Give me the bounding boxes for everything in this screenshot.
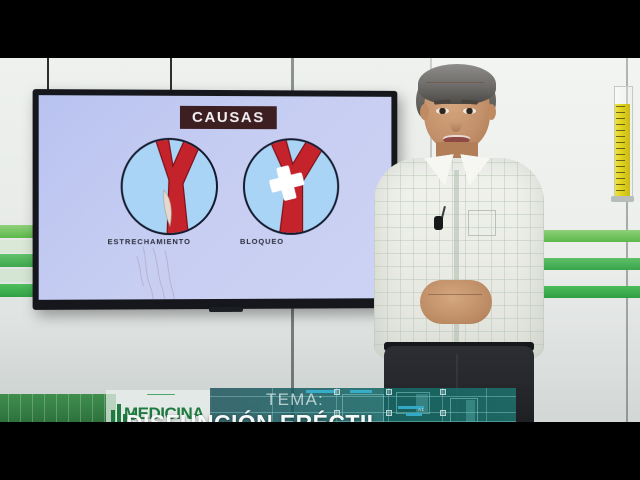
diagram-bloqueo — [243, 138, 339, 235]
blueprint-code-label: A1 — [418, 407, 425, 412]
shirt-placket — [454, 170, 459, 356]
letterbox-top — [0, 0, 640, 58]
clasped-hands — [420, 280, 492, 324]
lower-third-kicker: TEMA: — [266, 390, 324, 410]
presenter-shirt — [374, 158, 544, 358]
hand-crease-lower — [428, 294, 482, 295]
logo-bar-2 — [117, 404, 121, 422]
bench-texture — [0, 394, 116, 422]
diagram-label-left: ESTRECHAMIENTO — [108, 237, 191, 246]
diagram-label-right: BLOQUEO — [240, 237, 284, 246]
graduated-cylinder-prop — [614, 86, 631, 204]
shirt-pocket — [468, 210, 496, 236]
ear-right — [487, 104, 496, 120]
tv-brand-foot — [209, 307, 243, 312]
presenter — [368, 70, 548, 422]
lab-bench-prop — [0, 394, 116, 422]
eye-right — [463, 108, 476, 114]
slide-title-text: CAUSAS — [192, 109, 265, 126]
eye-left — [436, 108, 449, 114]
ear-left — [420, 104, 429, 120]
artery-narrowing-illustration — [123, 140, 216, 233]
diagram-estrechamiento — [121, 138, 218, 235]
presenter-hair — [418, 64, 496, 104]
video-frame: CAUSAS — [0, 0, 640, 480]
tv-screen: CAUSAS — [39, 95, 392, 300]
background-sketch-lines — [135, 246, 205, 300]
lapel-mic-icon — [434, 216, 443, 230]
lower-third-title: DISFUNCIÓN ERÉCTIL — [126, 410, 381, 422]
lower-third-graphic: MEDICINA PARA TODOS — [106, 388, 516, 422]
logo-bar-1 — [111, 410, 115, 422]
cylinder-scale-ticks — [616, 106, 625, 194]
letterbox-bottom — [0, 422, 640, 480]
cylinder-base — [611, 196, 634, 202]
artery-blockage-illustration — [245, 140, 337, 233]
studio-video: CAUSAS — [0, 58, 640, 422]
shirt-check-pattern — [374, 158, 544, 358]
hand-crease-upper — [426, 82, 484, 83]
slide-title-banner: CAUSAS — [180, 106, 277, 129]
television-display: CAUSAS — [33, 89, 398, 310]
nose — [450, 115, 462, 132]
